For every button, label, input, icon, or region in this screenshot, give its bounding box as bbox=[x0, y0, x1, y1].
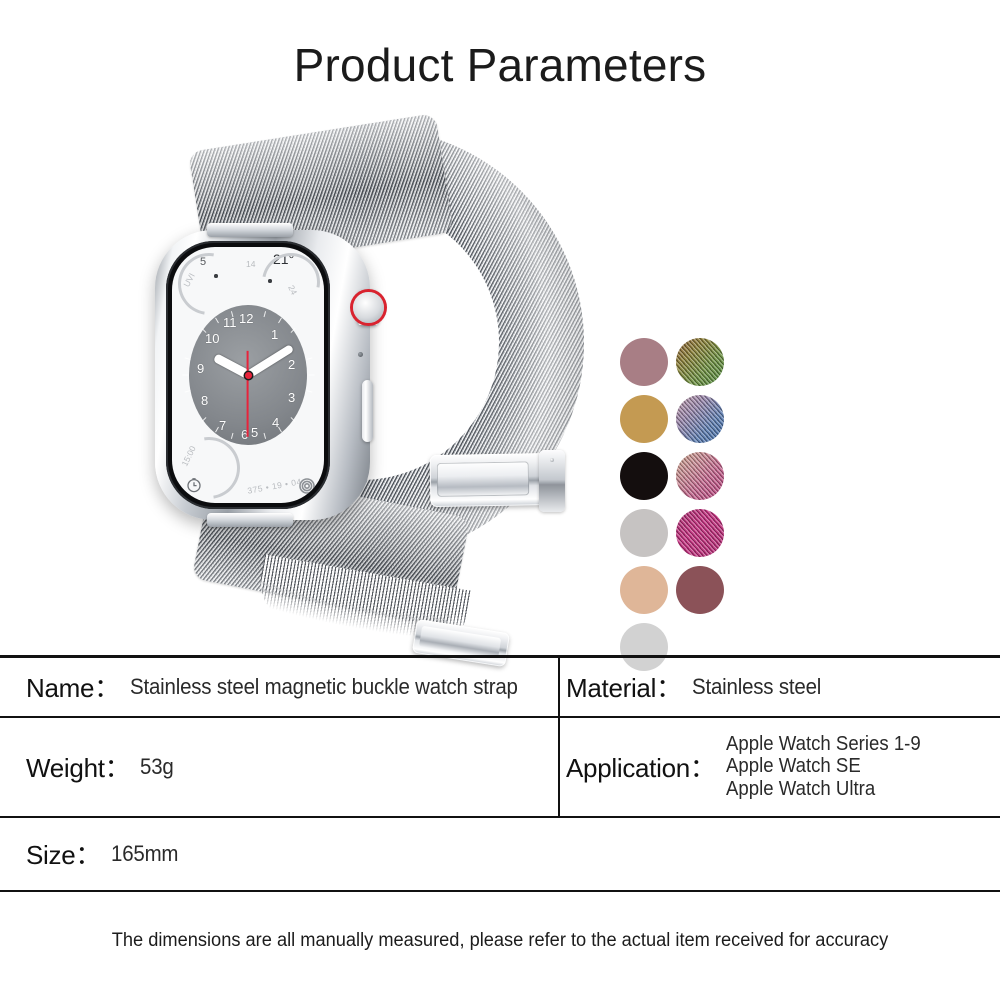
table-row: Name： Stainless steel magnetic buckle wa… bbox=[0, 658, 1000, 716]
swatch-blue-pink[interactable] bbox=[676, 395, 724, 443]
swatch-light-gray[interactable] bbox=[620, 509, 668, 557]
activity-rings-icon bbox=[298, 477, 316, 495]
table-row: Weight： 53g Application： Apple Watch Ser… bbox=[0, 718, 1000, 816]
swatch-beige[interactable] bbox=[620, 566, 668, 614]
swatch-gold[interactable] bbox=[620, 395, 668, 443]
cell-material: Material： Stainless steel bbox=[558, 658, 1000, 716]
watch-screen: UVI 5 14 21° 24 bbox=[172, 247, 324, 503]
stopwatch-icon bbox=[186, 477, 202, 493]
application-value-list: Apple Watch Series 1-9 Apple Watch SE Ap… bbox=[726, 733, 935, 800]
weight-label: Weight： bbox=[26, 748, 130, 785]
color-swatch-grid[interactable] bbox=[620, 338, 732, 680]
clasp-end-cap bbox=[539, 450, 565, 512]
activity-complication: 375 • 19 • 04 bbox=[247, 476, 303, 495]
microphone-icon bbox=[358, 352, 363, 357]
size-value: 165mm bbox=[111, 841, 178, 867]
application-label: Application： bbox=[566, 748, 716, 785]
scale-mid-label: 14 bbox=[246, 259, 255, 269]
hands-pivot bbox=[245, 372, 252, 379]
cell-name: Name： Stainless steel magnetic buckle wa… bbox=[0, 658, 558, 716]
magnetic-buckle-clasp bbox=[430, 453, 556, 507]
material-label: Material： bbox=[566, 668, 682, 705]
watch-dial: 12 1 2 3 4 5 6 7 8 9 10 11 bbox=[189, 305, 307, 445]
digital-crown-icon bbox=[353, 292, 384, 323]
dial-numeral-8: 8 bbox=[201, 393, 208, 408]
band-arc-inner bbox=[352, 204, 499, 480]
table-row: Size： 165mm bbox=[0, 818, 1000, 890]
watch-lug-bottom bbox=[207, 513, 293, 527]
weight-value: 53g bbox=[140, 754, 174, 780]
dial-numeral-1: 1 bbox=[271, 327, 278, 342]
swatch-magenta[interactable] bbox=[676, 509, 724, 557]
swatch-black[interactable] bbox=[620, 452, 668, 500]
product-image: UVI 5 14 21° 24 bbox=[0, 120, 1000, 640]
cell-size: Size： 165mm bbox=[0, 818, 558, 890]
swatch-tan-pink[interactable] bbox=[676, 452, 724, 500]
swatch-dusty-rose[interactable] bbox=[620, 338, 668, 386]
second-hand bbox=[247, 351, 249, 437]
dial-numeral-12: 12 bbox=[239, 311, 253, 326]
dial-numeral-2: 2 bbox=[288, 357, 295, 372]
dial-numeral-7: 7 bbox=[219, 418, 226, 433]
cell-weight: Weight： 53g bbox=[0, 718, 558, 816]
watch-bezel: UVI 5 14 21° 24 bbox=[166, 241, 330, 509]
product-parameters-page: Product Parameters bbox=[0, 0, 1000, 1000]
application-item: Apple Watch SE bbox=[726, 755, 921, 777]
table-bottom-rule bbox=[0, 890, 1000, 893]
page-title: Product Parameters bbox=[0, 38, 1000, 92]
swatch-olive-green[interactable] bbox=[676, 338, 724, 386]
swatch-maroon[interactable] bbox=[676, 566, 724, 614]
application-item: Apple Watch Series 1-9 bbox=[726, 733, 921, 755]
dial-numeral-5: 5 bbox=[251, 425, 258, 440]
disclaimer-note: The dimensions are all manually measured… bbox=[20, 930, 980, 952]
spec-table: Name： Stainless steel magnetic buckle wa… bbox=[0, 655, 1000, 892]
name-value: Stainless steel magnetic buckle watch st… bbox=[130, 674, 518, 700]
dial-numeral-9: 9 bbox=[197, 361, 204, 376]
material-value: Stainless steel bbox=[692, 674, 821, 700]
application-item: Apple Watch Ultra bbox=[726, 778, 921, 800]
cell-application: Application： Apple Watch Series 1-9 Appl… bbox=[558, 718, 1000, 816]
watch-lug-top bbox=[207, 223, 293, 237]
dial-numeral-11: 11 bbox=[223, 315, 237, 330]
dial-numeral-10: 10 bbox=[205, 331, 219, 346]
size-label: Size： bbox=[26, 835, 101, 872]
dial-numeral-4: 4 bbox=[272, 415, 279, 430]
name-label: Name： bbox=[26, 668, 120, 705]
dial-numeral-3: 3 bbox=[288, 390, 295, 405]
apple-watch: UVI 5 14 21° 24 bbox=[155, 230, 370, 520]
side-button bbox=[362, 380, 373, 442]
